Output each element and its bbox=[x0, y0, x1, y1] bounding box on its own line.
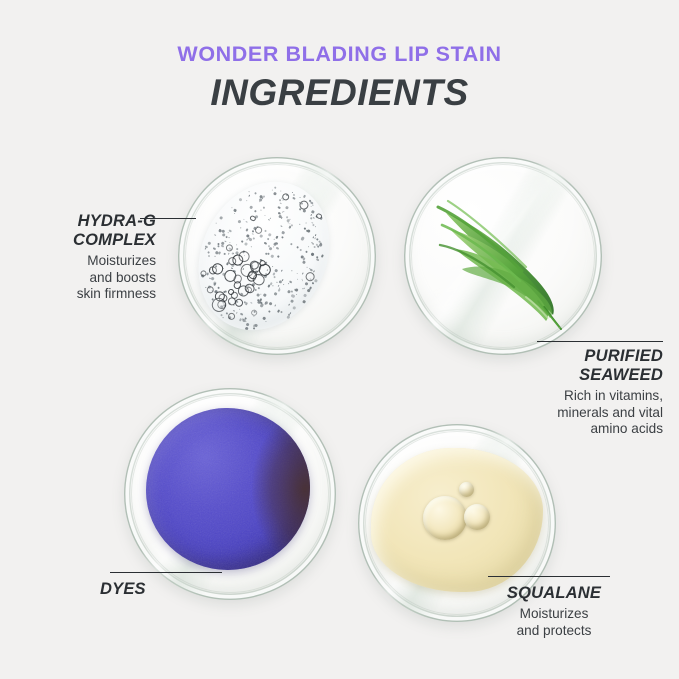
petri-dish-hydra-g bbox=[178, 157, 376, 355]
petri-dish-seaweed bbox=[404, 157, 602, 355]
callout-desc-line2: minerals and vital bbox=[503, 405, 663, 422]
callout-title-hydra: HYDRA-G COMPLEX bbox=[28, 212, 156, 250]
product-kicker: WONDER BLADING LIP STAIN bbox=[0, 44, 679, 66]
seaweed-illustration bbox=[404, 157, 602, 355]
gel-bubble-speckles bbox=[174, 159, 354, 353]
callout-desc-line3: skin firmness bbox=[28, 286, 156, 303]
infographic-canvas: WONDER BLADING LIP STAIN INGREDIENTS bbox=[0, 0, 679, 679]
callout-squalane: SQUALANE Moisturizes and protects bbox=[486, 564, 622, 639]
seaweed-icon bbox=[404, 157, 602, 355]
oil-droplet-medium bbox=[464, 504, 490, 530]
oil-droplet-large bbox=[423, 496, 467, 540]
callout-seaweed: PURIFIED SEAWEED Rich in vitamins, miner… bbox=[503, 335, 663, 438]
callout-title-line2: COMPLEX bbox=[28, 231, 156, 250]
callout-desc-line3: amino acids bbox=[503, 421, 663, 438]
callout-desc-line1: Rich in vitamins, bbox=[503, 388, 663, 405]
page-title: INGREDIENTS bbox=[0, 74, 679, 111]
callout-dyes: DYES bbox=[100, 560, 224, 599]
callout-desc-hydra: Moisturizes and boosts skin firmness bbox=[28, 253, 156, 303]
callout-title-seaweed: PURIFIED SEAWEED bbox=[503, 347, 663, 385]
callout-title-dyes: DYES bbox=[100, 580, 224, 599]
callout-hydra-g: HYDRA-G COMPLEX Moisturizes and boosts s… bbox=[28, 212, 156, 303]
callout-title-line1: PURIFIED bbox=[503, 347, 663, 366]
callout-title-line1: DYES bbox=[100, 580, 224, 599]
callout-desc-line1: Moisturizes bbox=[486, 606, 622, 623]
callout-desc-squalane: Moisturizes and protects bbox=[486, 606, 622, 639]
callout-title-line1: SQUALANE bbox=[486, 584, 622, 603]
powder-grain-texture bbox=[146, 408, 310, 570]
leader-line-squalane bbox=[488, 576, 610, 577]
blue-dye-powder bbox=[146, 408, 310, 570]
header-block: WONDER BLADING LIP STAIN INGREDIENTS bbox=[0, 44, 679, 111]
gel-blob bbox=[174, 159, 354, 353]
callout-desc-line2: and boosts bbox=[28, 270, 156, 287]
callout-desc-line2: and protects bbox=[486, 623, 622, 640]
oil-droplet-small bbox=[459, 482, 474, 497]
callout-title-line1: HYDRA-G bbox=[28, 212, 156, 231]
leader-line-seaweed bbox=[537, 341, 663, 342]
callout-title-squalane: SQUALANE bbox=[486, 584, 622, 603]
leader-line-dyes bbox=[110, 572, 222, 573]
leader-line-hydra bbox=[140, 218, 196, 219]
callout-desc-line1: Moisturizes bbox=[28, 253, 156, 270]
callout-desc-seaweed: Rich in vitamins, minerals and vital ami… bbox=[503, 388, 663, 438]
callout-title-line2: SEAWEED bbox=[503, 366, 663, 385]
